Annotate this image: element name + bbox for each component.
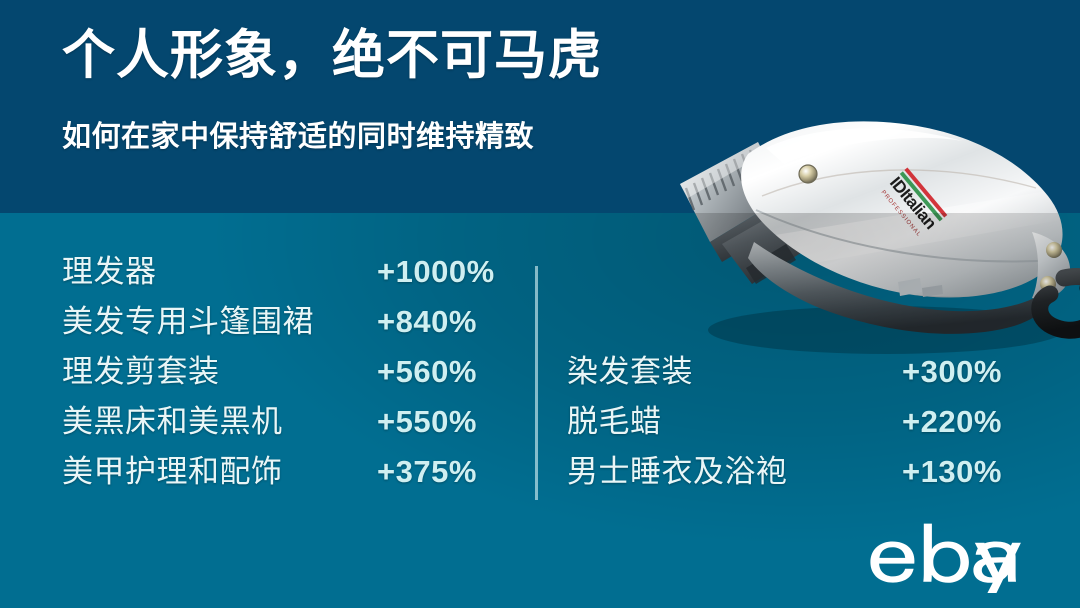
stat-label: 美甲护理和配饰 xyxy=(62,450,283,494)
product-image-hair-clipper: IDItalian PROFESSIONAL xyxy=(636,92,1080,362)
stat-value: +1000% xyxy=(377,250,495,294)
ebay-wordmark-glyphs xyxy=(870,524,1021,593)
stat-value: +220% xyxy=(902,400,1002,444)
column-divider xyxy=(535,266,538,500)
stat-value: +550% xyxy=(377,400,477,444)
infographic-canvas: IDItalian PROFESSIONAL xyxy=(0,0,1080,608)
stat-label: 美黑床和美黑机 xyxy=(62,400,283,444)
page-subtitle: 如何在家中保持舒适的同时维持精致 xyxy=(62,113,534,155)
stat-label: 理发剪套装 xyxy=(62,350,220,394)
stat-value: +130% xyxy=(902,450,1002,494)
stat-value: +300% xyxy=(902,350,1002,394)
ebay-logo xyxy=(866,519,1050,593)
stat-label: 脱毛蜡 xyxy=(567,400,662,444)
stat-label: 染发套装 xyxy=(567,350,693,394)
stat-value: +375% xyxy=(377,450,477,494)
page-title: 个人形象，绝不可马虎 xyxy=(62,26,602,85)
stat-value: +840% xyxy=(377,300,477,344)
stat-label: 男士睡衣及浴袍 xyxy=(567,450,788,494)
stat-label: 美发专用斗篷围裙 xyxy=(62,300,314,344)
stat-value: +560% xyxy=(377,350,477,394)
stat-label: 理发器 xyxy=(62,250,157,294)
